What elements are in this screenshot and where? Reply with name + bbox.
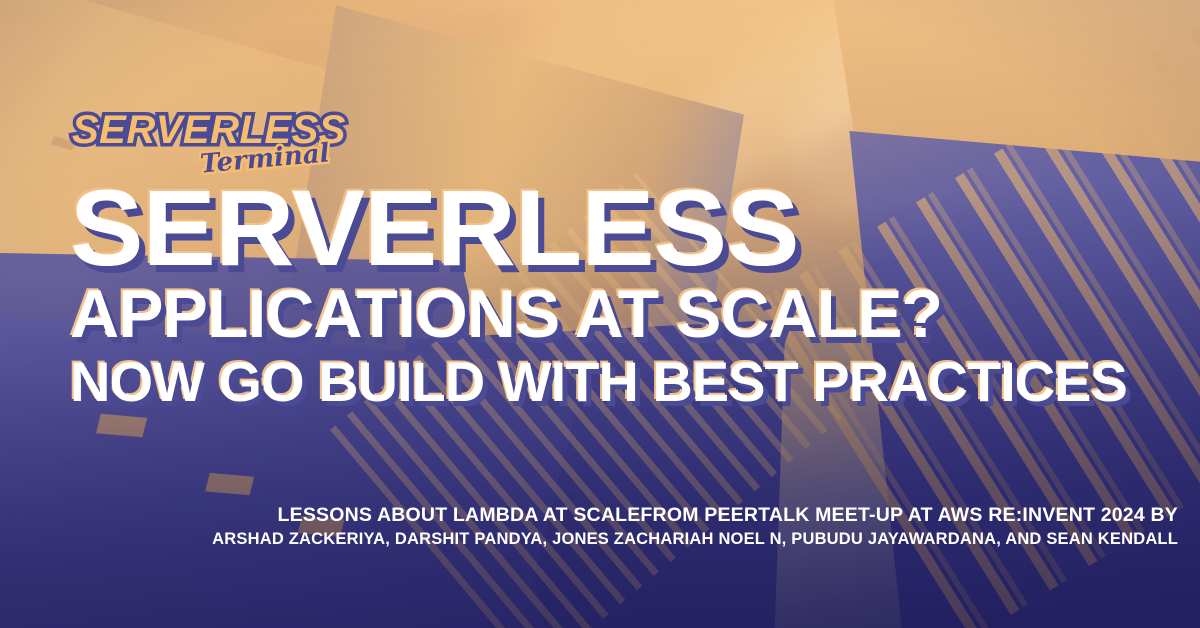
- subtitle-block: LESSONS ABOUT LAMBDA AT SCALEFROM PEERTA…: [212, 503, 1178, 550]
- subtitle-line-2: ARSHAD ZACKERIYA, DARSHIT PANDYA, JONES …: [212, 529, 1178, 550]
- promo-banner: SERVERLESS Terminal SERVERLESS APPLICATI…: [0, 0, 1200, 628]
- headline-line-1: SERVERLESS: [70, 178, 1151, 277]
- headline-line-2: APPLICATIONS AT SCALE?: [70, 283, 1130, 346]
- headline-block: SERVERLESS APPLICATIONS AT SCALE? NOW GO…: [70, 178, 1130, 407]
- headline-line-3: NOW GO BUILD WITH BEST PRACTICES: [70, 356, 1130, 408]
- subtitle-line-1: LESSONS ABOUT LAMBDA AT SCALEFROM PEERTA…: [212, 503, 1178, 527]
